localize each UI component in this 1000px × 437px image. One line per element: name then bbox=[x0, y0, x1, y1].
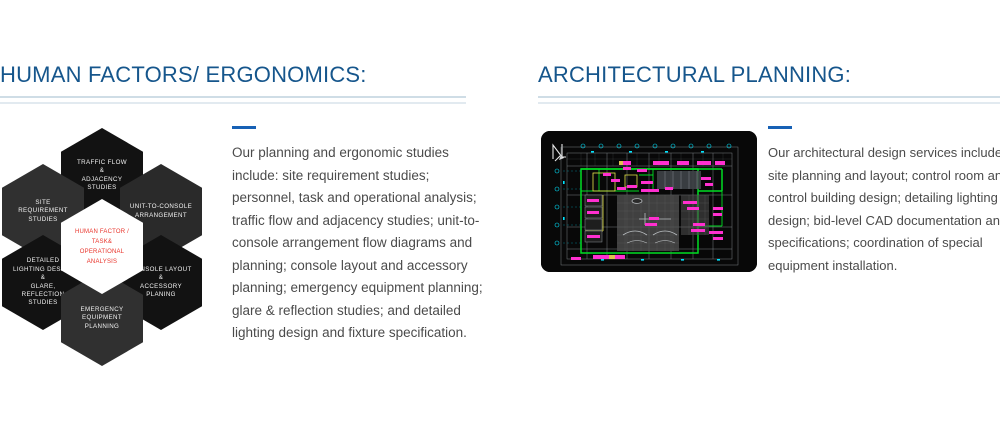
body-text-human-factors: Our planning and ergonomic studies inclu… bbox=[232, 142, 484, 345]
hex-cell-label: SITE REQUIREMENT STUDIES bbox=[18, 199, 68, 224]
heading-divider bbox=[0, 96, 466, 104]
body-text-architectural-planning: Our architectural design services includ… bbox=[768, 142, 1000, 277]
cad-floor-plan-drawing bbox=[541, 131, 757, 272]
body-block-human-factors: Our planning and ergonomic studies inclu… bbox=[232, 126, 484, 345]
page-title-human-factors: HUMAN FACTORS/ ERGONOMICS: bbox=[0, 62, 493, 88]
cad-floor-plan-image bbox=[541, 131, 757, 272]
accent-dash bbox=[232, 126, 256, 129]
accent-dash bbox=[768, 126, 792, 129]
section-header-human-factors: HUMAN FACTORS/ ERGONOMICS: bbox=[0, 62, 493, 104]
page-title-architectural-planning: ARCHITECTURAL PLANNING: bbox=[538, 62, 1000, 88]
hex-cell-label: UNIT-TO-CONSOLE ARRANGEMENT bbox=[130, 203, 192, 220]
body-block-architectural-planning: Our architectural design services includ… bbox=[768, 126, 1000, 277]
hexagon-diagram: TRAFFIC FLOW & ADJACENCY STUDIES SITE RE… bbox=[2, 128, 202, 338]
hex-center-label: HUMAN FACTOR / TASK& OPERATIONAL ANALYSI… bbox=[75, 227, 129, 267]
page-root: HUMAN FACTORS/ ERGONOMICS: TRAFFIC FLOW … bbox=[0, 0, 1000, 437]
heading-divider bbox=[538, 96, 1000, 104]
hex-cell-label: EMERGENCY EQUIPMENT PLANNING bbox=[80, 306, 123, 331]
section-header-architectural-planning: ARCHITECTURAL PLANNING: bbox=[538, 62, 1000, 104]
